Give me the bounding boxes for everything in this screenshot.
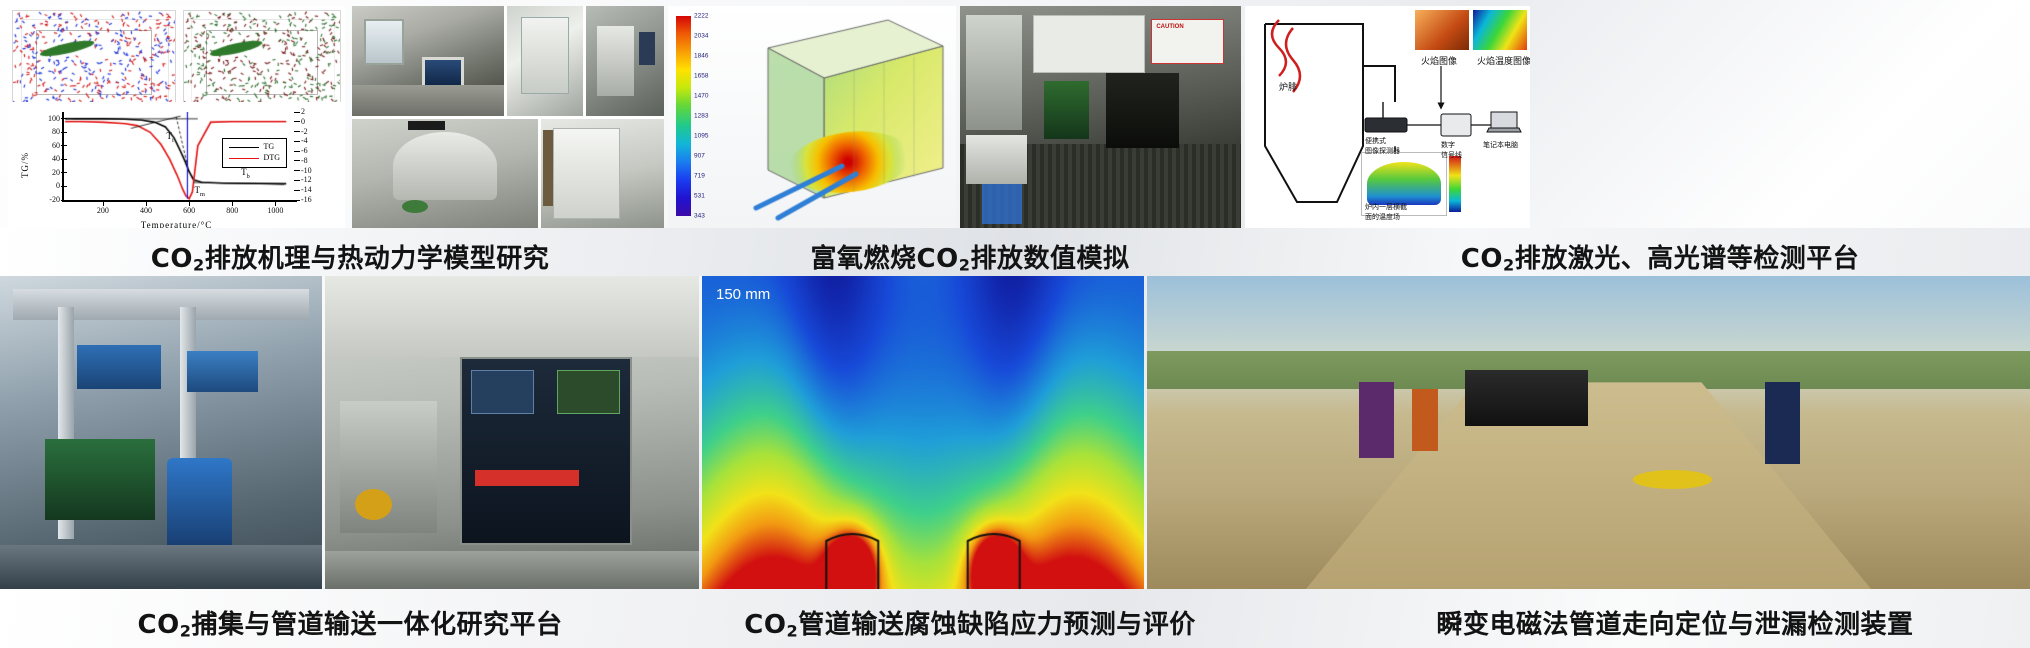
controller-unit — [966, 135, 1028, 184]
colorbar-tick: 531 — [694, 193, 705, 200]
caption-text-sub: 2 — [193, 256, 205, 275]
blue-tank — [167, 458, 231, 552]
tg-x-tick: 400 — [140, 206, 152, 215]
survey-vehicle — [1465, 370, 1589, 426]
bench-shape — [352, 85, 504, 116]
tg-x-tick: 200 — [97, 206, 109, 215]
tg-y2-tick: -14 — [301, 185, 327, 194]
panel-capture-pipeline-rig — [0, 276, 322, 589]
tg-x-tick: 1000 — [267, 206, 283, 215]
temp-field-colorbar — [1449, 156, 1461, 212]
caption-row2-col3: 瞬变电磁法管道走向定位与泄漏检测装置 — [1320, 604, 2030, 641]
workshop-floor — [325, 551, 699, 589]
panel-lab-instruments — [352, 6, 664, 228]
worker-1 — [1359, 382, 1394, 457]
colorbar-tick: 2034 — [694, 33, 708, 40]
y-axis-label: TG/% — [20, 152, 30, 178]
red-indicator-strip — [475, 470, 580, 486]
photo-adsorption-analyzer — [541, 119, 664, 228]
cfd-furnace-volume — [738, 12, 950, 222]
caption-text-pre: CO — [744, 610, 786, 640]
panel-cfd-simulation: 2222203418461658147012831095907719531343 — [668, 6, 956, 228]
schematic-label: 火焰图像 — [1421, 54, 1457, 67]
tg-y-tick: 40 — [34, 154, 60, 163]
caption-text-post: 捕集与管道输送一体化研究平台 — [191, 610, 562, 640]
colorbar-tick: 2222 — [694, 13, 708, 20]
worker-3 — [1765, 382, 1800, 463]
green-compressor — [45, 439, 154, 520]
caption-text-sub: 2 — [786, 622, 798, 641]
floor — [0, 545, 322, 589]
caption-text-sub: 2 — [959, 256, 971, 275]
caption-text-post: 排放数值模拟 — [970, 244, 1129, 274]
worker-2 — [1412, 389, 1438, 452]
camera-body — [1365, 118, 1407, 132]
analyzer-screen — [639, 32, 655, 65]
flame-wave-1 — [1272, 20, 1286, 76]
colorbar-tick: 1470 — [694, 93, 708, 100]
colorbar-tick: 1283 — [694, 113, 708, 120]
colorbar-tick: 1658 — [694, 73, 708, 80]
caption-text-post: 排放机理与热动力学模型研究 — [205, 244, 550, 274]
caption-text-pre: CO — [138, 610, 180, 640]
caution-sign: CAUTION — [1151, 19, 1224, 63]
caption-text-pre: 富氧燃烧CO — [811, 244, 959, 274]
caption-row1-col2: 富氧燃烧CO2排放数值模拟 — [620, 238, 1320, 275]
tem-coil-device — [1633, 470, 1712, 489]
tg-y2-tick: -16 — [301, 195, 327, 204]
caption-row1-col1: CO2排放机理与热动力学模型研究 — [0, 238, 700, 275]
flame-temperature-image-thumb — [1473, 10, 1527, 50]
blue-equipment-box — [77, 345, 161, 389]
blue-cable — [982, 184, 1021, 224]
tg-x-tick: 600 — [183, 206, 195, 215]
cfd-colorbar: 2222203418461658147012831095907719531343 — [676, 16, 734, 216]
colorbar-gradient — [676, 16, 691, 216]
x-axis-label: Temperature/°C — [141, 220, 212, 228]
panel-field-survey — [1147, 276, 2030, 589]
fem-stress-field — [702, 276, 1144, 589]
photo-lab-room — [352, 6, 504, 116]
tg-y2-tick: 0 — [301, 117, 327, 126]
laser-head — [1044, 81, 1089, 139]
furnace-outline-body — [1265, 24, 1363, 202]
colorbar-tick: 719 — [694, 173, 705, 180]
annotation-tm: Tm — [194, 185, 204, 198]
schematic-label: 笔记本电脑 — [1483, 140, 1518, 150]
centrifuge-button-green — [402, 200, 428, 213]
cabinet-body — [521, 17, 570, 94]
tg-y2-tick: 2 — [301, 107, 327, 116]
tg-y2-tick: -10 — [301, 166, 327, 175]
research-poster: 100806040200-20 20-2-4-6-8-10-12-14-16 2… — [0, 0, 2030, 648]
tg-x-tick: 800 — [226, 206, 238, 215]
caption-text-post: 排放激光、高光谱等检测平台 — [1515, 244, 1860, 274]
schematic-label: 炉腓 — [1279, 80, 1297, 93]
centrifuge-display — [408, 121, 445, 130]
tg-plot-area: 100806040200-20 20-2-4-6-8-10-12-14-16 2… — [62, 112, 297, 202]
centrifuge-lid — [393, 132, 497, 200]
panel-md-tg: 100806040200-20 20-2-4-6-8-10-12-14-16 2… — [8, 6, 345, 228]
caption-text-sub: 2 — [1503, 256, 1515, 275]
colorbar-tick: 1095 — [694, 133, 708, 140]
caption-text-pre: CO — [1461, 244, 1503, 274]
photo-analyzer — [586, 6, 664, 116]
tg-dtg-chart: 100806040200-20 20-2-4-6-8-10-12-14-16 2… — [10, 102, 343, 228]
photo-instrument-cabinet — [507, 6, 583, 116]
analyzer-column — [553, 128, 619, 220]
tg-y2-tick: -8 — [301, 156, 327, 165]
laptop-shape — [1491, 112, 1517, 128]
caption-text-sub: 2 — [180, 622, 192, 641]
blue-control-box — [187, 351, 258, 392]
tg-y-tick: 0 — [34, 181, 60, 190]
legend-line-dtg — [229, 158, 259, 159]
tg-y-tick: 100 — [34, 114, 60, 123]
laptop-base — [1487, 128, 1521, 132]
panel-laser-platform: CAUTION — [960, 6, 1241, 228]
tg-y-tick: 80 — [34, 127, 60, 136]
panel-pipeline-workshop — [325, 276, 699, 589]
tg-y2-tick: -4 — [301, 136, 327, 145]
notice-board — [1033, 15, 1145, 73]
window-shape — [364, 19, 404, 65]
schematic-label: 便携式 图像探测器 — [1365, 136, 1400, 156]
tg-y-tick: 60 — [34, 141, 60, 150]
door-shape — [543, 130, 553, 206]
legend-label-dtg: DTG — [264, 153, 280, 164]
photo-centrifuge — [352, 119, 538, 228]
colorbar-tick: 343 — [694, 213, 705, 220]
flame-image-thumb — [1415, 10, 1469, 50]
tg-y-tick: -20 — [34, 195, 60, 204]
colorbar-tick: 907 — [694, 153, 705, 160]
panel-corrosion-fem: 150 mm — [702, 276, 1144, 589]
tg-y2-tick: -6 — [301, 146, 327, 155]
daq-box — [1441, 114, 1471, 136]
sky — [1147, 276, 2030, 357]
schematic-label: 炉内一层横截 面的温度场 — [1365, 202, 1407, 222]
caption-row2-col1: CO2捕集与管道输送一体化研究平台 — [0, 604, 700, 641]
schematic-label: 数字 信号线 — [1441, 140, 1462, 160]
cabinet-screen-2 — [557, 370, 621, 414]
schematic-label: 火焰温度图像 — [1477, 54, 1530, 67]
legend-label-tg: TG — [264, 142, 275, 153]
tg-y2-tick: -12 — [301, 175, 327, 184]
fem-scale-label: 150 mm — [716, 286, 770, 303]
annotation-ti: Ti — [167, 131, 174, 144]
caption-text-post: 瞬变电磁法管道走向定位与泄漏检测装置 — [1436, 610, 1913, 640]
spectrometer-box — [1106, 73, 1179, 148]
caption-text-pre: CO — [151, 244, 193, 274]
caption-text-post: 管道输送腐蚀缺陷应力预测与评价 — [798, 610, 1196, 640]
wall-panel — [966, 15, 1022, 130]
tg-legend: TG DTG — [222, 138, 287, 168]
colorbar-tick: 1846 — [694, 53, 708, 60]
caption-row1-col3: CO2排放激光、高光谱等检测平台 — [1290, 238, 2030, 275]
panel-flame-schematic: 炉腓火焰图像火焰温度图像便携式 图像探测器数字 信号线笔记本电脑炉内一层横截 面… — [1245, 6, 1530, 228]
annotation-tb: Tb — [241, 167, 250, 180]
analyzer-body — [597, 26, 634, 96]
caption-row2-col2: CO2管道输送腐蚀缺陷应力预测与评价 — [600, 604, 1340, 641]
tg-y2-tick: -2 — [301, 127, 327, 136]
legend-line-tg — [229, 147, 259, 148]
workshop-wall — [325, 276, 699, 357]
tg-y-tick: 20 — [34, 168, 60, 177]
surface-mesh — [1367, 162, 1441, 205]
cabinet-screen-1 — [471, 370, 535, 414]
